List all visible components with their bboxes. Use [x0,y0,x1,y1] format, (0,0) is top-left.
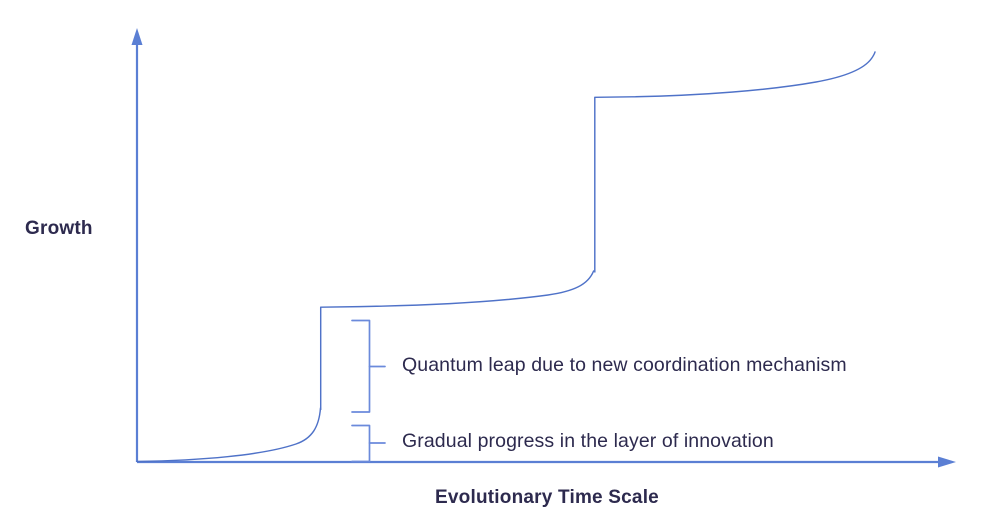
annotation-brackets-group [352,321,385,462]
arrow-up-icon [132,28,143,45]
x-axis-title: Evolutionary Time Scale [0,487,984,509]
growth-chart-figure: Growth Evolutionary Time Scale Quantum l… [0,0,984,526]
quantum-leap-bracket-icon [352,321,385,413]
axes-group [132,28,957,468]
annotation-gradual-progress-label: Gradual progress in the layer of innovat… [402,430,774,453]
y-axis-title: Growth [25,218,93,240]
curve-segment-gradual-1 [137,408,321,462]
annotation-quantum-leap-label: Quantum leap due to new coordination mec… [402,354,847,377]
gradual-progress-bracket-icon [352,426,385,462]
curve-segment-gradual-3 [595,52,875,97]
curve-segment-gradual-2 [321,271,594,307]
growth-curve-group [137,52,875,462]
arrow-right-icon [938,457,956,468]
